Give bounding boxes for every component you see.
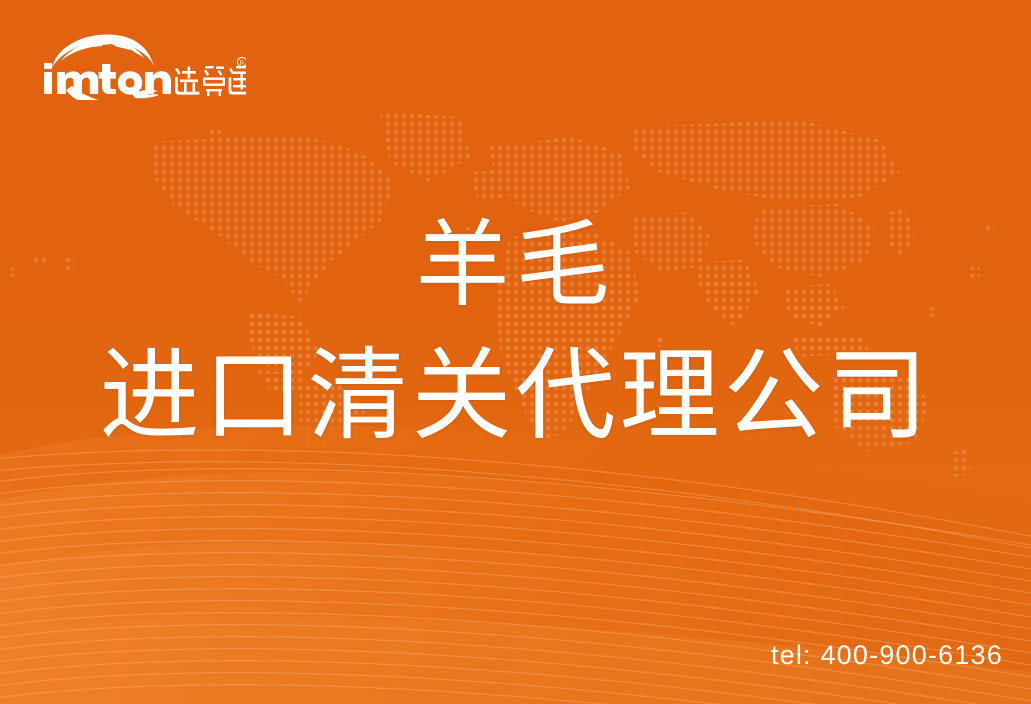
company-logo[interactable]: R xyxy=(36,28,246,100)
headline-line-1: 羊毛 xyxy=(0,218,1031,312)
brand-wordmark xyxy=(44,63,171,95)
brand-chinese xyxy=(175,66,246,96)
headline-line-2: 进口清关代理公司 xyxy=(0,346,1031,446)
promo-banner: R 羊毛 进口清关代理公司 tel: 400-900-6136 xyxy=(0,0,1031,704)
svg-text:R: R xyxy=(240,61,245,67)
globe-icon xyxy=(52,34,154,68)
headline-block: 羊毛 进口清关代理公司 xyxy=(0,218,1031,446)
telephone-text: tel: 400-900-6136 xyxy=(771,640,1003,671)
trademark-icon: R xyxy=(237,57,246,67)
